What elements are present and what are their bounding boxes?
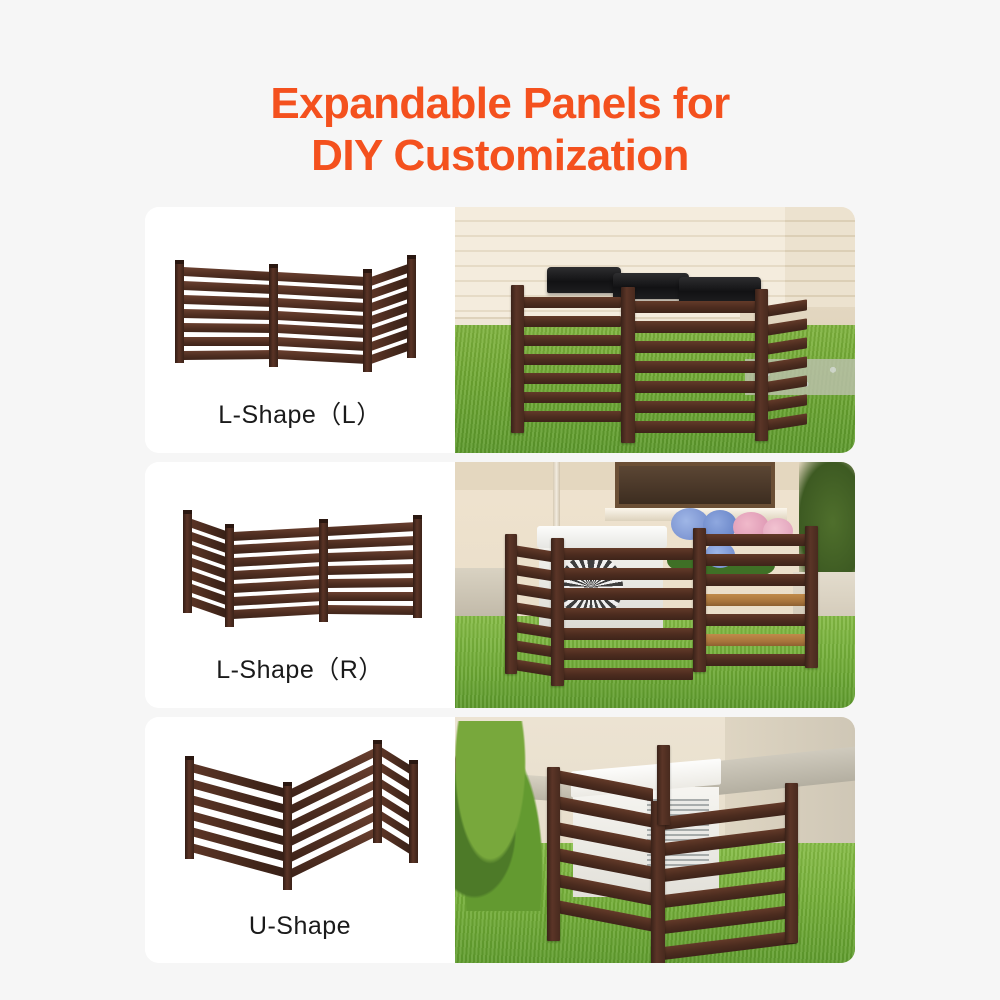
fence-panel-right-return	[755, 289, 807, 435]
photo-ac-unit-enclosure	[455, 462, 855, 708]
fence-panel-left	[511, 279, 621, 427]
photo-u-shape-ac-enclosure	[455, 717, 855, 963]
page-title-line-1: Expandable Panels for	[0, 78, 1000, 130]
shape-card-l-right[interactable]: L-Shape（R）	[145, 462, 855, 708]
page-title-line-2: DIY Customization	[0, 130, 1000, 182]
fence-panel-front-right	[693, 530, 817, 664]
shape-label: L-Shape（R）	[145, 650, 455, 686]
l-shape-right-diagram	[145, 470, 455, 650]
shape-card-u[interactable]: U-Shape	[145, 717, 855, 963]
diagram-panel: L-Shape（R）	[145, 462, 455, 708]
fence-panel-left-wing	[547, 767, 653, 947]
fence-post	[505, 534, 517, 674]
fence-post	[805, 526, 818, 668]
fence-panel-back-wing	[653, 745, 673, 825]
shape-card-l-left[interactable]: L-Shape（L）	[145, 207, 855, 453]
house-window	[615, 462, 775, 508]
fence-post	[551, 538, 564, 686]
shape-label: L-Shape（L）	[145, 395, 455, 431]
fence-panel-front-left	[551, 542, 693, 684]
fence-panel-middle	[621, 283, 761, 433]
shape-card-list: L-Shape（L）	[145, 207, 855, 972]
product-feature-page: Expandable Panels for DIY Customization	[0, 0, 1000, 1000]
diagram-panel: L-Shape（L）	[145, 207, 455, 453]
fence-post	[693, 528, 706, 672]
shape-label: U-Shape	[145, 912, 455, 941]
u-shape-diagram	[145, 725, 455, 905]
fence-post	[511, 285, 524, 433]
page-title: Expandable Panels for DIY Customization	[0, 78, 1000, 182]
l-shape-left-diagram	[145, 215, 455, 395]
fence-post	[621, 287, 635, 443]
fence-panel-front	[651, 805, 797, 963]
fence-post	[547, 767, 560, 941]
shrub	[455, 721, 543, 911]
fence-post	[785, 783, 798, 943]
fence-post	[755, 289, 768, 441]
fence-panel-left-return	[505, 534, 555, 682]
fence-post	[651, 801, 665, 963]
diagram-panel: U-Shape	[145, 717, 455, 963]
photo-trash-bin-enclosure	[455, 207, 855, 453]
fence-post	[657, 745, 670, 825]
